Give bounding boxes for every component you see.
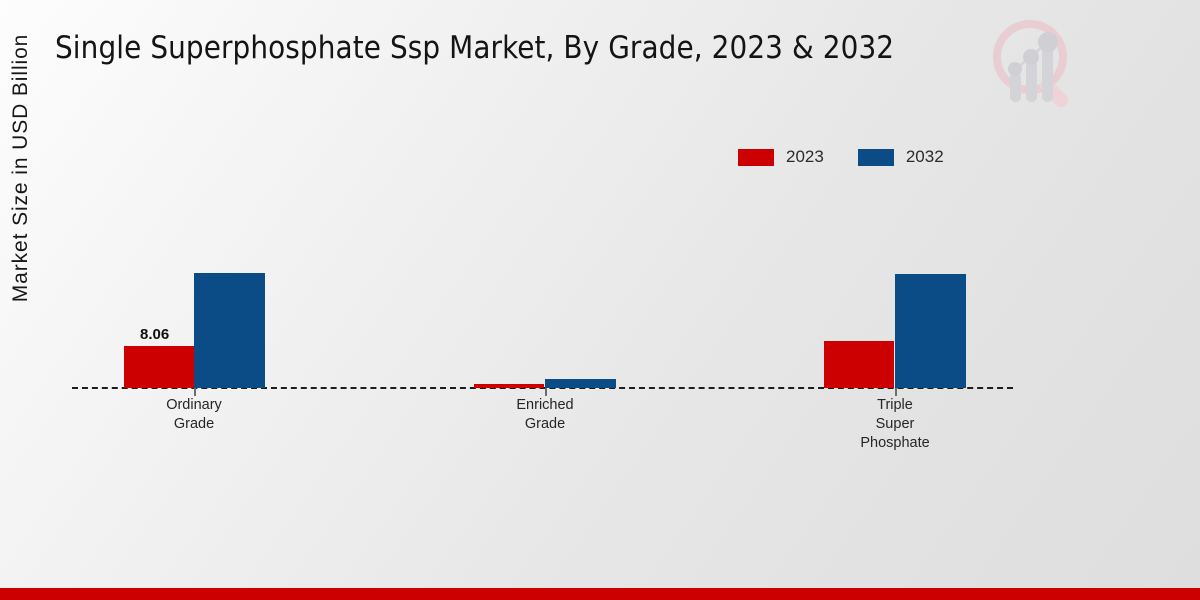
x-label-triple-super-phosphate-line2: Super xyxy=(810,415,980,434)
x-label-ordinary-grade: Ordinary Grade xyxy=(109,396,279,434)
bar-2032-triple-super-phosphate[interactable] xyxy=(895,274,966,388)
x-label-enriched-grade-line1: Enriched xyxy=(460,396,630,415)
bar-2023-triple-super-phosphate[interactable] xyxy=(824,341,894,388)
x-label-triple-super-phosphate-line1: Triple xyxy=(810,396,980,415)
bar-2023-enriched-grade[interactable] xyxy=(474,384,544,388)
x-label-ordinary-grade-line2: Grade xyxy=(109,415,279,434)
x-label-ordinary-grade-line1: Ordinary xyxy=(109,396,279,415)
x-label-enriched-grade: Enriched Grade xyxy=(460,396,630,434)
bar-2023-ordinary-grade[interactable] xyxy=(124,346,194,388)
x-label-triple-super-phosphate: Triple Super Phosphate xyxy=(810,396,980,453)
bottom-accent-bar xyxy=(0,588,1200,600)
x-tick-enriched-grade xyxy=(545,388,547,396)
bar-2032-ordinary-grade[interactable] xyxy=(194,273,265,388)
chart-plot-area: 8.06 Ordinary Grade Enriched Grade Tripl… xyxy=(0,0,1200,600)
x-label-enriched-grade-line2: Grade xyxy=(460,415,630,434)
bar-2032-enriched-grade[interactable] xyxy=(545,379,616,388)
x-label-triple-super-phosphate-line3: Phosphate xyxy=(810,434,980,453)
bar-value-label-2023-ordinary-grade: 8.06 xyxy=(140,326,169,343)
x-tick-ordinary-grade xyxy=(194,388,196,396)
x-tick-triple-super-phosphate xyxy=(895,388,897,396)
